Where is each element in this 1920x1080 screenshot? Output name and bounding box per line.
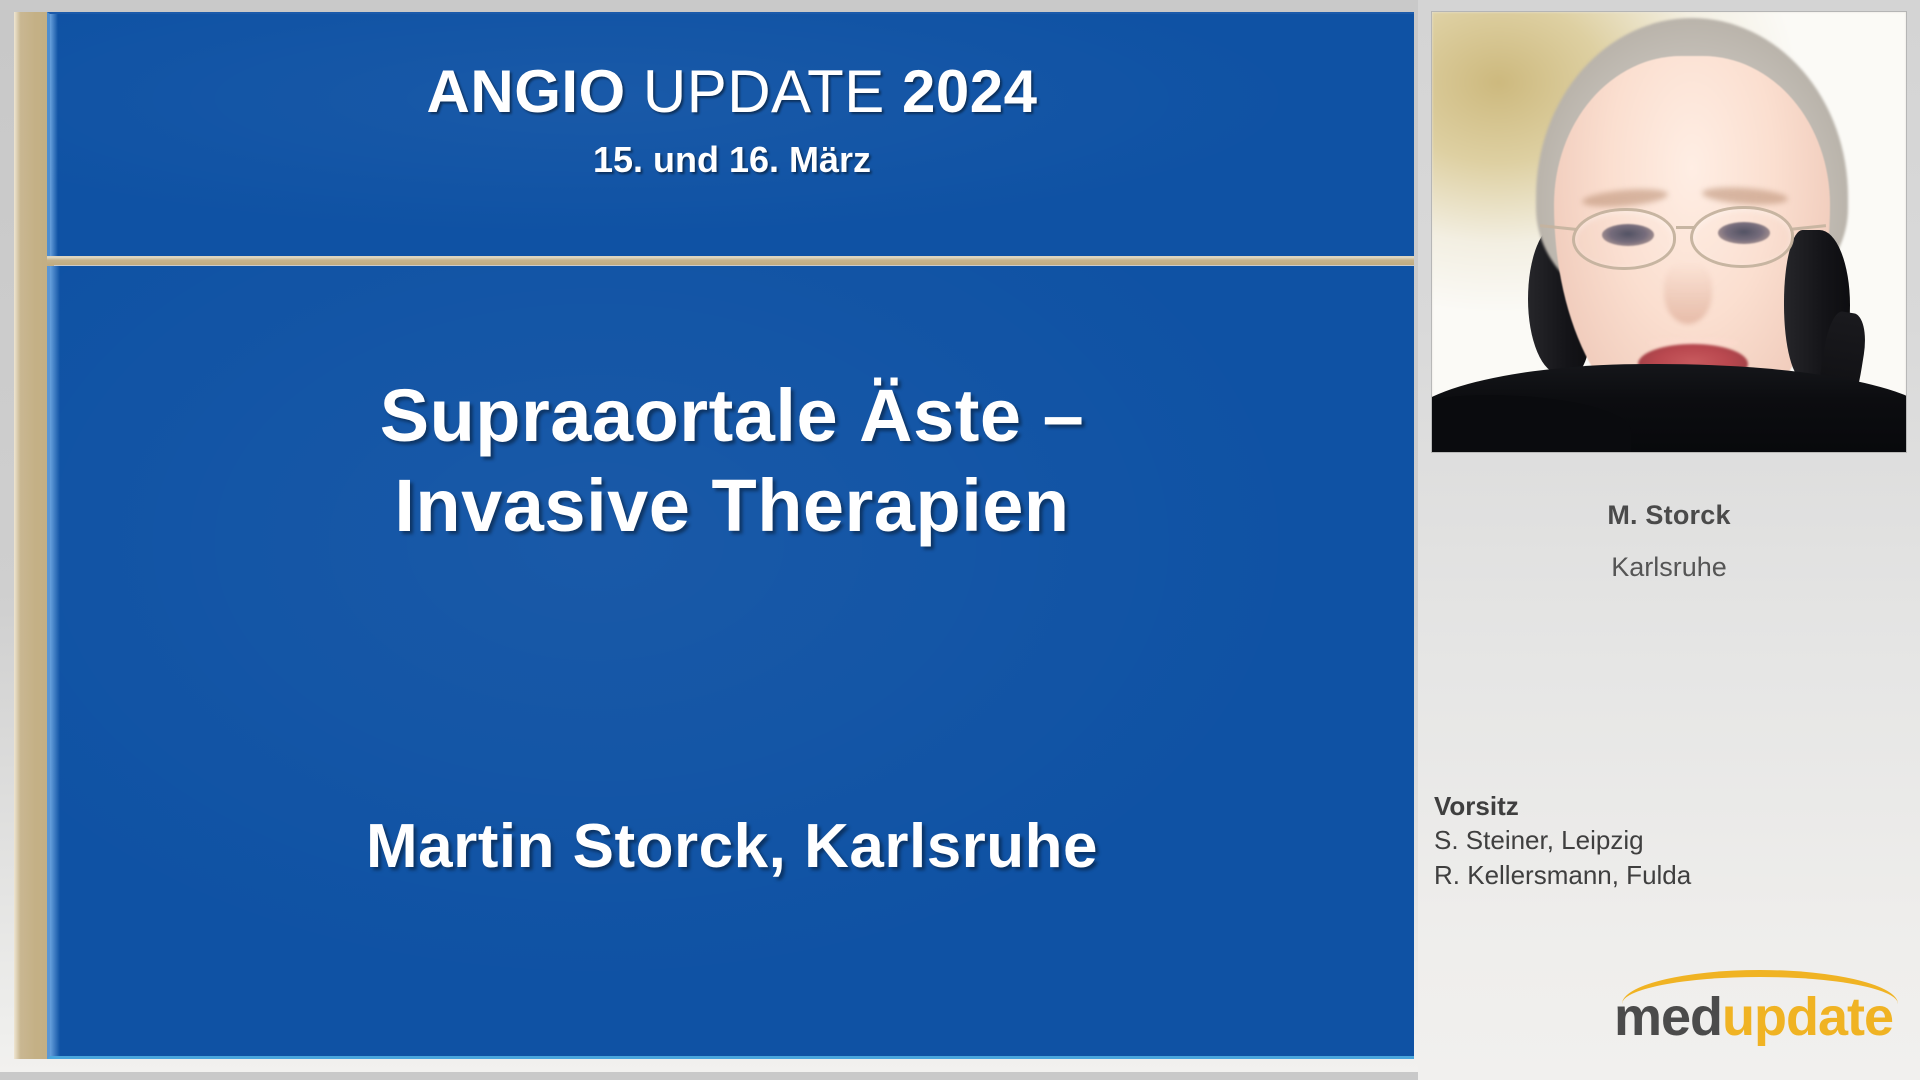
logo-text-med: med <box>1614 987 1722 1047</box>
chair-label: Vorsitz <box>1434 790 1904 823</box>
slide-divider <box>47 256 1414 265</box>
speaker-name: M. Storck <box>1418 500 1920 531</box>
logo-wordmark: medupdate <box>1614 990 1914 1044</box>
speaker-nose <box>1664 262 1712 324</box>
presentation-viewer: ANGIO UPDATE 2024 15. und 16. März Supra… <box>0 0 1920 1080</box>
event-name-bold: ANGIO <box>427 58 626 125</box>
header-sheen <box>50 14 1414 256</box>
glasses-lens-left <box>1572 208 1676 270</box>
event-dates: 15. und 16. März <box>50 142 1414 178</box>
talk-title-line-1: Supraaortale Äste – <box>50 371 1414 461</box>
event-title: ANGIO UPDATE 2024 <box>50 62 1414 122</box>
chair-person-2: R. Kellersmann, Fulda <box>1434 858 1904 892</box>
chair-person-1: S. Steiner, Leipzig <box>1434 823 1904 857</box>
logo-text-update: update <box>1722 987 1893 1047</box>
event-name-light: UPDATE <box>643 58 885 125</box>
slide-header-block: ANGIO UPDATE 2024 15. und 16. März <box>47 12 1414 256</box>
chair-block: Vorsitz S. Steiner, Leipzig R. Kellersma… <box>1434 790 1904 892</box>
slide-body-block: Supraaortale Äste – Invasive Therapien M… <box>47 266 1414 1059</box>
event-title-space1 <box>626 58 643 125</box>
speaker-video-tile[interactable] <box>1432 12 1906 452</box>
glasses-lens-right <box>1690 206 1794 268</box>
talk-title-line-2: Invasive Therapien <box>50 461 1414 551</box>
event-title-space2 <box>885 58 902 125</box>
event-year: 2024 <box>902 58 1037 125</box>
slide-area: ANGIO UPDATE 2024 15. und 16. März Supra… <box>0 0 1418 1080</box>
glasses-bridge <box>1676 226 1694 229</box>
talk-title: Supraaortale Äste – Invasive Therapien <box>50 371 1414 552</box>
speaker-side-panel: M. Storck Karlsruhe Vorsitz S. Steiner, … <box>1418 0 1920 1080</box>
speaker-city: Karlsruhe <box>1418 552 1920 583</box>
medupdate-logo: medupdate <box>1614 968 1914 1058</box>
talk-speaker: Martin Storck, Karlsruhe <box>50 816 1414 878</box>
